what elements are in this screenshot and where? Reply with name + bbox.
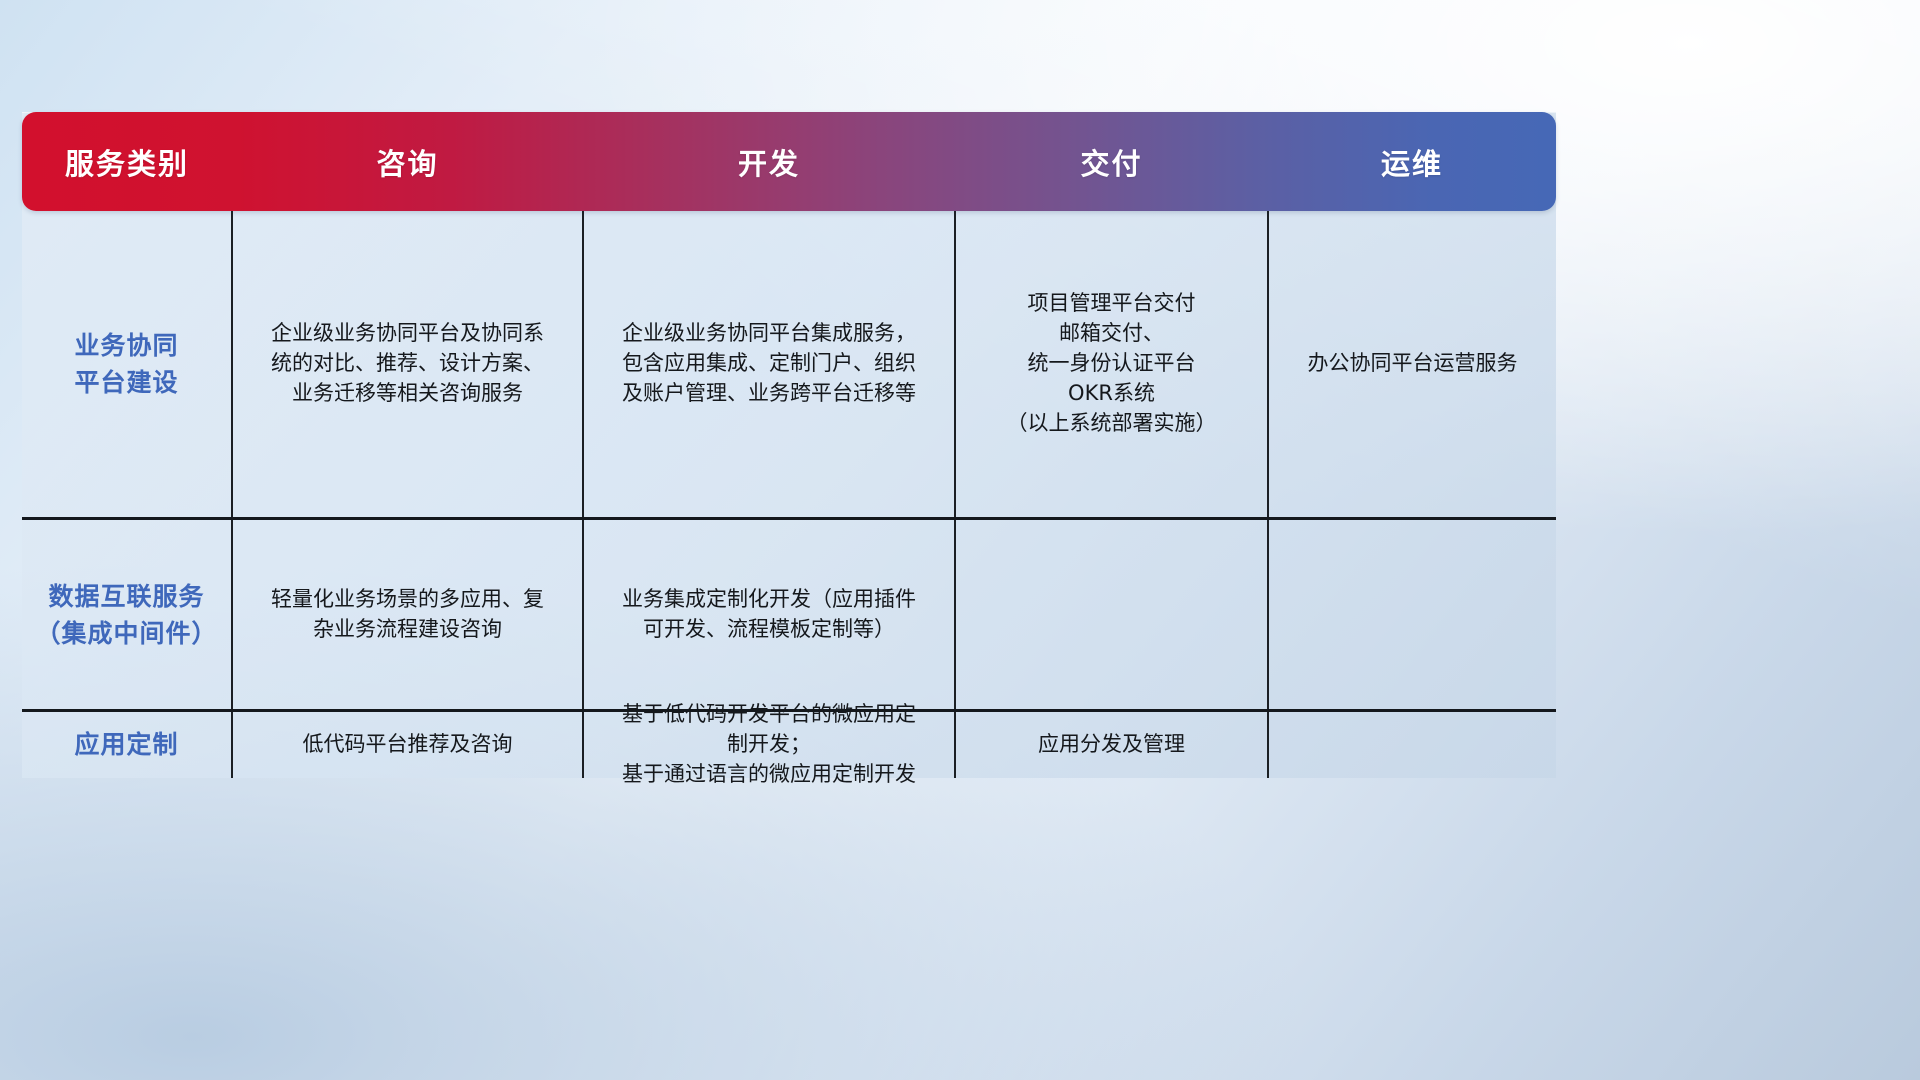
table-row-2-consulting: 轻量化业务场景的多应用、复 杂业务流程建设咨询 xyxy=(233,520,582,710)
table-row-1-operations: 办公协同平台运营服务 xyxy=(1269,211,1556,517)
table-row-3-operations xyxy=(1269,712,1556,778)
table-header-bar: 服务类别 咨询 开发 交付 运维 xyxy=(22,112,1556,211)
column-header-delivery: 交付 xyxy=(955,112,1268,211)
column-header-category: 服务类别 xyxy=(22,112,232,211)
table-row-3-consulting: 低代码平台推荐及咨询 xyxy=(233,712,582,778)
table-row-3-category: 应用定制 xyxy=(22,712,231,778)
column-header-consulting: 咨询 xyxy=(232,112,583,211)
table-row-2-category: 数据互联服务 （集成中间件） xyxy=(22,520,231,710)
column-header-operations: 运维 xyxy=(1268,112,1556,211)
table-row-2-operations xyxy=(1269,520,1556,710)
column-header-development: 开发 xyxy=(583,112,955,211)
table-row-1-delivery: 项目管理平台交付 邮箱交付、 统一身份认证平台 OKR系统 （以上系统部署实施） xyxy=(956,211,1267,517)
table-row-3-delivery: 应用分发及管理 xyxy=(956,712,1267,778)
table-row-2-development: 业务集成定制化开发（应用插件 可开发、流程模板定制等） xyxy=(584,520,954,710)
table-row-3-development: 基于低代码开发平台的微应用定 制开发； 基于通过语言的微应用定制开发 xyxy=(584,712,954,778)
table-row-1-development: 企业级业务协同平台集成服务， 包含应用集成、定制门户、组织 及账户管理、业务跨平… xyxy=(584,211,954,517)
table-row-2-delivery xyxy=(956,520,1267,710)
table-row-1-category: 业务协同 平台建设 xyxy=(22,211,231,517)
service-matrix-table: 服务类别 咨询 开发 交付 运维 业务协同 平台建设 企业级业务协同平台及协同系… xyxy=(22,112,1556,778)
table-row-1-consulting: 企业级业务协同平台及协同系 统的对比、推荐、设计方案、 业务迁移等相关咨询服务 xyxy=(233,211,582,517)
